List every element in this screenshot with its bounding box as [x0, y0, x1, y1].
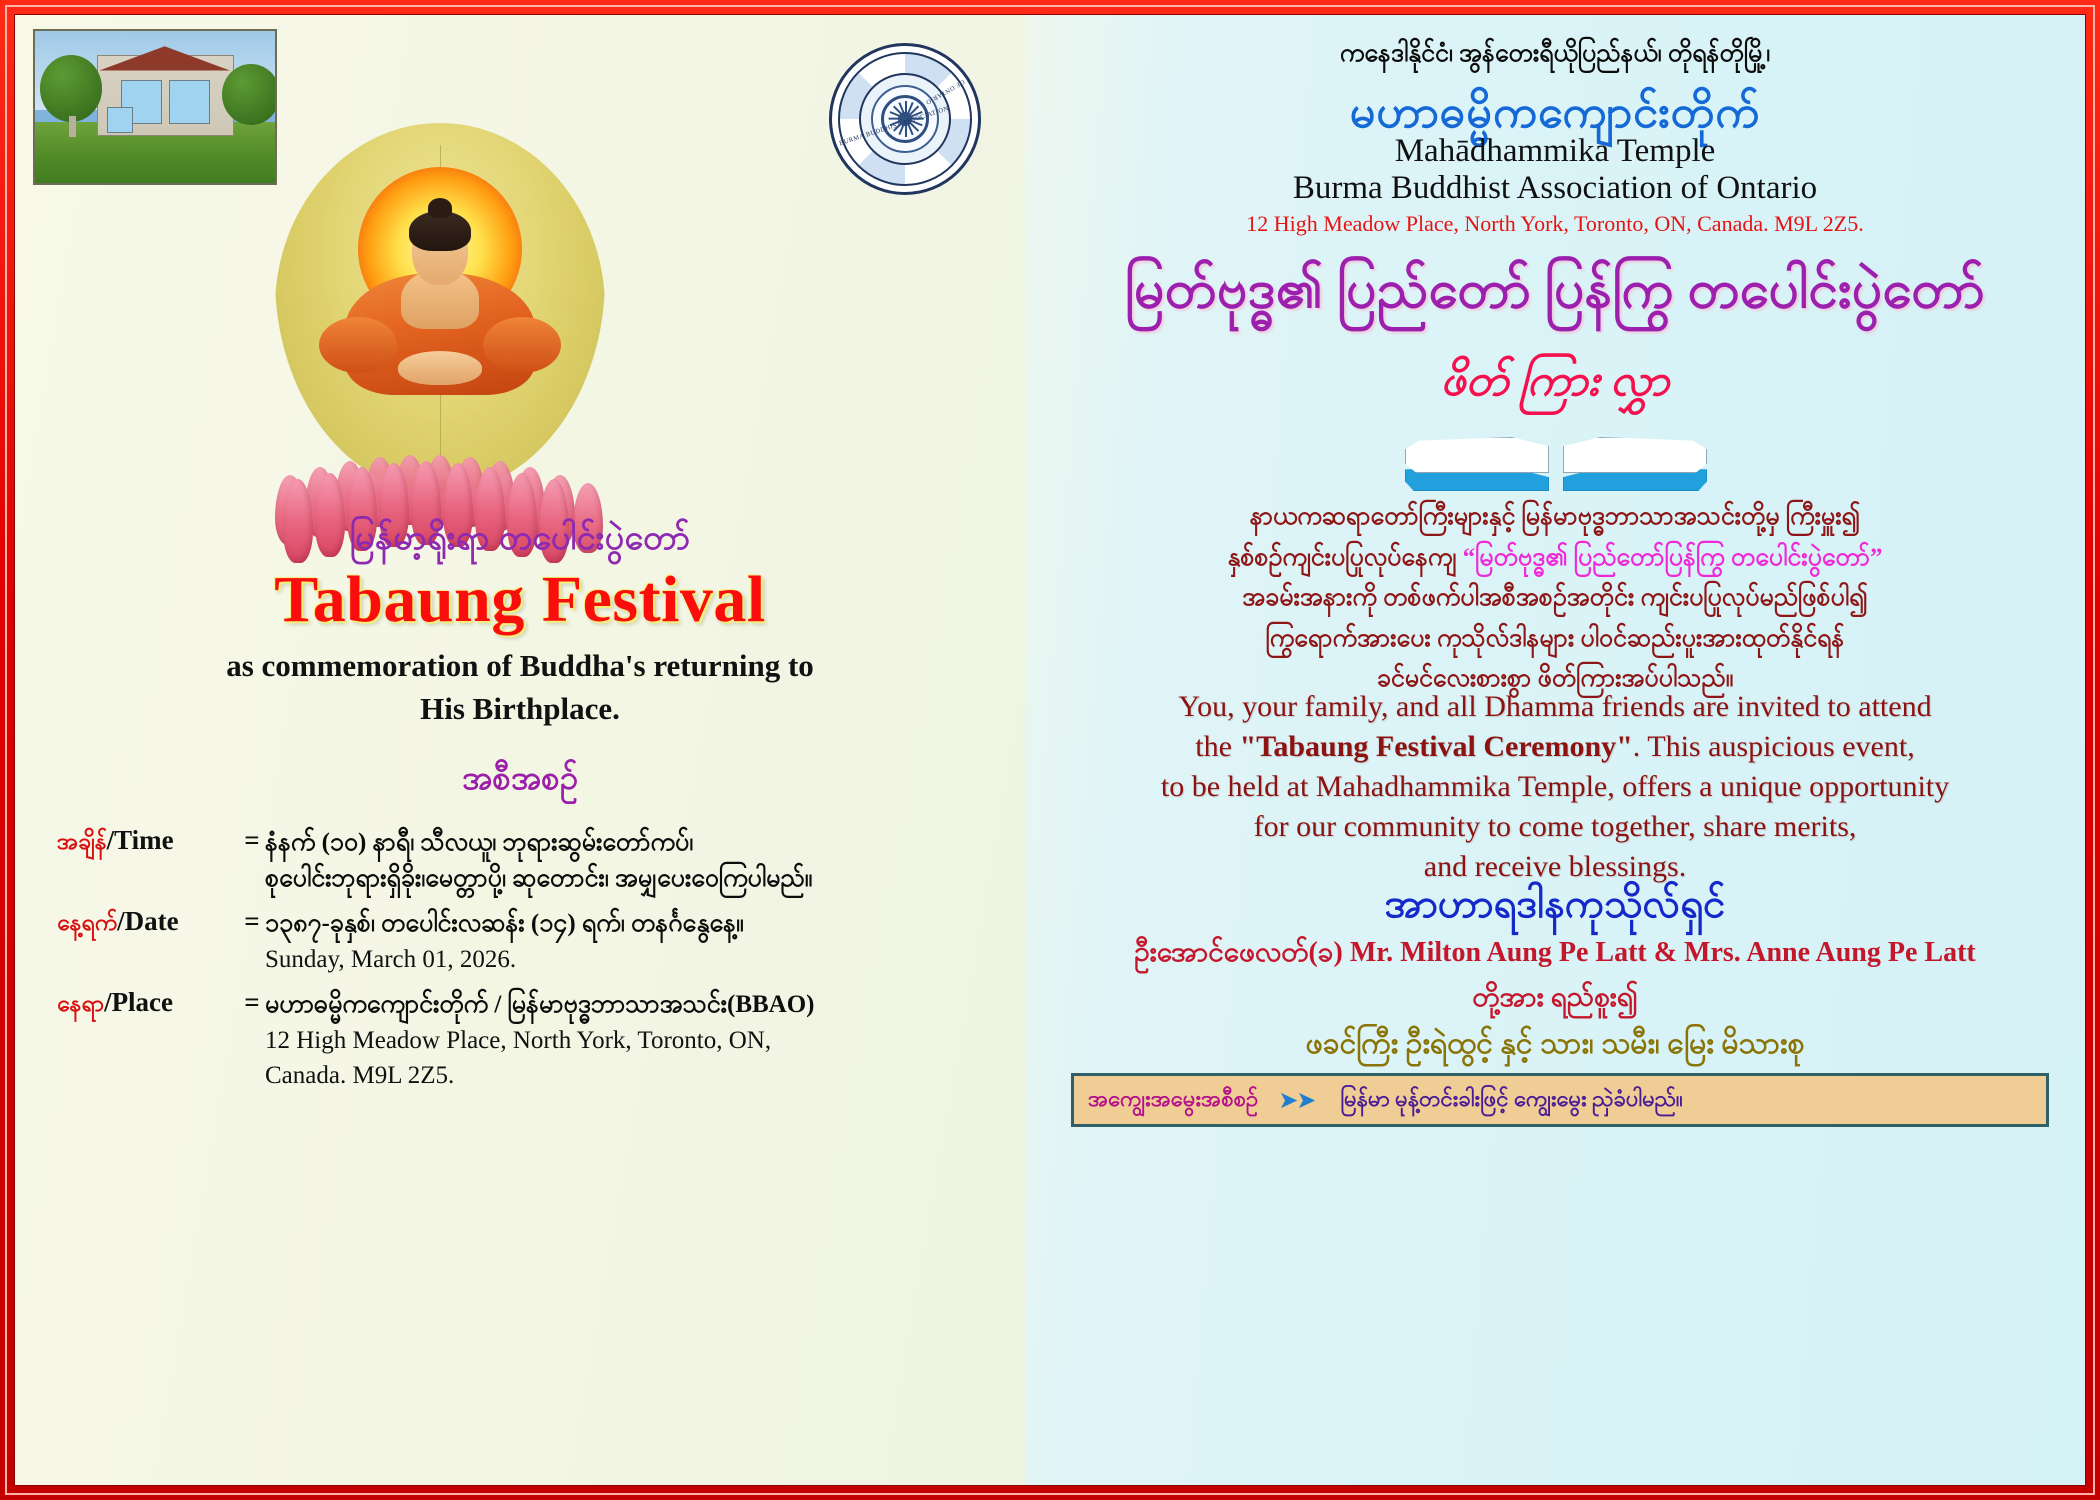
buddha-figure — [315, 211, 565, 461]
event-details-list: အချိန်/Time = နံနက် (၁၀) နာရီ၊ သီလယူ၊ ဘု… — [57, 825, 1005, 1104]
left-panel: BURMA BUDDHIST ASSOCIATION OF ONTARIO — [15, 15, 1025, 1485]
bbao-seal-logo: BURMA BUDDHIST ASSOCIATION OF ONTARIO — [829, 43, 981, 195]
detail-label-time-en: /Time — [107, 825, 174, 855]
detail-time-line1: နံနက် (၁၀) နာရီ၊ သီလယူ၊ ဘုရားဆွမ်းတော်ကပ… — [265, 825, 1005, 861]
seal-top-text: BURMA BUDDHIST ASSOCIATION — [838, 105, 949, 147]
detail-place-line2: 12 High Meadow Place, North York, Toront… — [265, 1023, 1005, 1059]
detail-eq-date: = — [239, 906, 265, 977]
invite-mm-line2-highlight: “မြတ်ဗုဒ္ဓ၏ ပြည်တော်ပြန်ကြွ တပေါင်းပွဲတေ… — [1463, 544, 1883, 571]
donor-name-burmese: ဦးအောင်ဖေလတ်(ခ) — [1134, 937, 1343, 968]
buddha-illustration — [220, 123, 660, 553]
program-heading: အစီအစဉ် — [15, 757, 1025, 806]
invite-mm-line2: နှစ်စဉ်ကျင်းပပြုလုပ်နေကျ “မြတ်ဗုဒ္ဓ၏ ပြည… — [1051, 538, 2059, 579]
detail-row-time: အချိန်/Time = နံနက် (၁၀) နာရီ၊ သီလယူ၊ ဘု… — [57, 825, 1005, 896]
invite-en-line2: the "Tabaung Festival Ceremony". This au… — [1047, 727, 2063, 767]
photo-window — [107, 107, 133, 133]
detail-date-line1: ၁၃၈၇-ခုနှစ်၊ တပေါင်းလဆန်း (၁၄) ရက်၊ တနင်… — [265, 906, 1005, 942]
detail-label-place-en: /Place — [104, 987, 173, 1017]
festival-subtitle-line1: as commemoration of Buddha's returning t… — [226, 648, 814, 683]
invite-mm-line4: ကြွရောက်အားပေး ကုသိုလ်ဒါနများ ပါဝင်ဆည်းပ… — [1051, 619, 2059, 660]
invitation-paragraph-burmese: နာယကဆရာတော်ကြီးများနှင့် မြန်မာဗုဒ္ဓဘာသာ… — [1051, 497, 2059, 700]
detail-label-date: နေ့ရက်/Date — [57, 906, 239, 977]
poster-frame: BURMA BUDDHIST ASSOCIATION OF ONTARIO — [0, 0, 2100, 1500]
seal-bottom-text: OF ONTARIO — [924, 78, 965, 106]
invite-en-line1: You, your family, and all Dhamma friends… — [1047, 687, 2063, 727]
location-burmese: ကနေဒါနိုင်ငံ၊ အွန်တေးရီယိုပြည်နယ်၊ တိုရန… — [1065, 37, 2045, 74]
donor-names: ဦးအောင်ဖေလတ်(ခ) Mr. Milton Aung Pe Latt … — [1045, 933, 2065, 975]
food-offering-box: အကျွေးအမွေးအစီစဉ် ➤➤ မြန်မာ မုန့်တင်းခါး… — [1071, 1073, 2049, 1127]
photo-window — [169, 80, 209, 125]
invite-en-line3: to be held at Mahadhammika Temple, offer… — [1047, 767, 2063, 807]
invite-mm-line2-pre: နှစ်စဉ်ကျင်းပပြုလုပ်နေကျ — [1227, 544, 1462, 571]
double-arrow-icon: ➤➤ — [1278, 1086, 1314, 1115]
food-box-left-label: အကျွေးအမွေးအစီစဉ် — [1088, 1084, 1258, 1117]
invitation-word-burmese: ဖိတ် ကြား လွှာ — [1025, 353, 2085, 417]
detail-value-date: ၁၃၈၇-ခုနှစ်၊ တပေါင်းလဆန်း (၁၄) ရက်၊ တနင်… — [265, 906, 1005, 977]
temple-address: 12 High Meadow Place, North York, Toront… — [1065, 211, 2045, 237]
detail-label-place-mm: နေရာ — [57, 991, 104, 1016]
detail-eq-time: = — [239, 825, 265, 896]
detail-value-time: နံနက် (၁၀) နာရီ၊ သီလယူ၊ ဘုရားဆွမ်းတော်ကပ… — [265, 825, 1005, 896]
invitation-paragraph-english: You, your family, and all Dhamma friends… — [1047, 687, 2063, 886]
invite-mm-line1: နာယကဆရာတော်ကြီးများနှင့် မြန်မာဗုဒ္ဓဘာသာ… — [1051, 497, 2059, 538]
temple-name-english: Mahādhammika Temple — [1065, 133, 2045, 170]
buddha-ushnisha — [428, 198, 452, 218]
invite-en-line2-post: . This auspicious event, — [1633, 730, 1915, 763]
detail-value-place: မဟာဓမ္မိကကျောင်းတိုက် / မြန်မာဗုဒ္ဓဘာသာအ… — [265, 987, 1005, 1094]
donor-heading-burmese: အာဟာရဒါနကုသိုလ်ရှင် — [1025, 878, 2085, 937]
detail-label-date-mm: နေ့ရက် — [57, 910, 117, 935]
photo-tree — [222, 64, 277, 125]
festival-title-burmese: မြန်မာ့ရိုးရာ တပေါင်းပွဲတော် — [15, 515, 1025, 566]
poster-inner: BURMA BUDDHIST ASSOCIATION OF ONTARIO — [14, 14, 2086, 1486]
detail-row-date: နေ့ရက်/Date = ၁၃၈၇-ခုနှစ်၊ တပေါင်းလဆန်း … — [57, 906, 1005, 977]
association-name-english: Burma Buddhist Association of Ontario — [1065, 170, 2045, 207]
festival-subtitle-line2: His Birthplace. — [420, 691, 620, 726]
ribbon-right-half — [1563, 433, 1705, 491]
detail-date-line2: Sunday, March 01, 2026. — [265, 942, 1005, 978]
buddha-arm-right — [483, 317, 561, 373]
invite-en-line4: for our community to come together, shar… — [1047, 807, 2063, 847]
main-event-title-burmese: မြတ်ဗုဒ္ဓ၏ ပြည်တော် ပြန်ကြွ တပေါင်းပွဲတေ… — [1035, 255, 2075, 333]
family-line: ဖခင်ကြီး ဦးရဲထွင့် နှင့် သား၊ သမီး၊ မြေး… — [1035, 1023, 2075, 1068]
dedication-line: တို့အား ရည်စူး၍ — [1025, 978, 2085, 1020]
right-panel: ကနေဒါနိုင်ငံ၊ အွန်တေးရီယိုပြည်နယ်၊ တိုရန… — [1025, 15, 2085, 1485]
ribbon-banner-icon — [1405, 433, 1705, 495]
detail-label-time-mm: အချိန် — [57, 829, 107, 854]
ribbon-left-half — [1405, 433, 1547, 491]
buddha-hands — [398, 351, 482, 385]
detail-label-date-en: /Date — [117, 906, 178, 936]
donor-name-english: Mr. Milton Aung Pe Latt & Mrs. Anne Aung… — [1350, 937, 1976, 968]
detail-label-place: နေရာ/Place — [57, 987, 239, 1094]
detail-row-place: နေရာ/Place = မဟာဓမ္မိကကျောင်းတိုက် / မြန… — [57, 987, 1005, 1094]
detail-eq-place: = — [239, 987, 265, 1094]
photo-tree — [40, 55, 102, 122]
food-box-right-label: မြန်မာ မုန့်တင်းခါးဖြင့် ကျွေးမွေး ညှဲခံ… — [1340, 1084, 1682, 1117]
seal-text-ring: BURMA BUDDHIST ASSOCIATION OF ONTARIO — [829, 43, 981, 195]
invite-en-line2-pre: the — [1195, 730, 1239, 763]
ceremony-name: "Tabaung Festival Ceremony" — [1239, 730, 1632, 763]
festival-subtitle: as commemoration of Buddha's returning t… — [45, 645, 995, 731]
detail-label-time: အချိန်/Time — [57, 825, 239, 896]
festival-title-english: Tabaung Festival — [15, 562, 1025, 638]
detail-time-line2: စုပေါင်းဘုရားရှိခိုး၊မေတ္တာပို့၊ ဆုတောင်… — [265, 861, 1005, 897]
photo-post — [69, 116, 76, 137]
invite-mm-line3: အခမ်းအနားကို တစ်ဖက်ပါအစီအစဉ်အတိုင်း ကျင်… — [1051, 578, 2059, 619]
detail-place-line3: Canada. M9L 2Z5. — [265, 1058, 1005, 1094]
buddha-arm-left — [319, 317, 397, 373]
detail-place-line1: မဟာဓမ္မိကကျောင်းတိုက် / မြန်မာဗုဒ္ဓဘာသာအ… — [265, 987, 1005, 1023]
